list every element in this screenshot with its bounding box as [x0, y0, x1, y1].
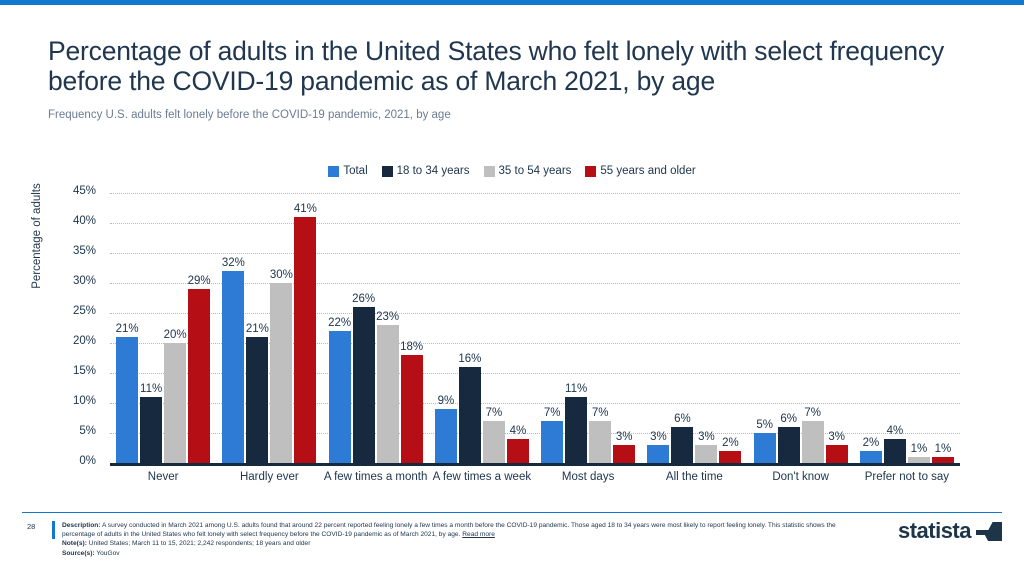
bar[interactable]: 3%: [647, 445, 669, 463]
bar[interactable]: 7%: [589, 421, 611, 463]
bar-value-label: 2%: [722, 437, 739, 449]
legend-label: 18 to 34 years: [397, 165, 470, 177]
y-tick-label: 20%: [73, 335, 96, 347]
notes-text: United States; March 11 to 15, 2021; 2,2…: [89, 540, 311, 547]
y-tick-label: 35%: [73, 245, 96, 257]
legend-label: 35 to 54 years: [499, 165, 572, 177]
bar[interactable]: 11%: [140, 397, 162, 463]
x-tick-label: A few times a month: [323, 470, 429, 484]
footer-divider: [22, 512, 1002, 513]
bar[interactable]: 41%: [294, 217, 316, 463]
y-tick-label: 10%: [73, 395, 96, 407]
bar[interactable]: 11%: [565, 397, 587, 463]
bar-value-label: 20%: [164, 329, 187, 341]
x-axis-line: [110, 463, 960, 466]
x-axis-category-labels: NeverHardly everA few times a monthA few…: [110, 470, 960, 510]
bar-value-label: 7%: [486, 407, 503, 419]
read-more-link[interactable]: Read more: [462, 531, 495, 538]
y-tick-label: 30%: [73, 275, 96, 287]
legend-label: Total: [343, 165, 367, 177]
bar-value-label: 18%: [400, 341, 423, 353]
bar-value-label: 32%: [222, 257, 245, 269]
bar-value-label: 5%: [756, 419, 773, 431]
bar-value-label: 23%: [376, 311, 399, 323]
x-tick-label: Most days: [535, 470, 641, 484]
bar-value-label: 11%: [565, 383, 587, 395]
footer-source: Source(s): YouGov: [62, 549, 852, 558]
bar[interactable]: 22%: [329, 331, 351, 463]
y-tick-label: 0%: [79, 455, 96, 467]
page-subtitle: Frequency U.S. adults felt lonely before…: [48, 109, 451, 121]
bar-value-label: 6%: [674, 413, 691, 425]
bars-layer: 21%11%20%29%32%21%30%41%22%26%23%18%9%16…: [110, 193, 960, 463]
bar-value-label: 1%: [935, 443, 952, 455]
description-label: Description:: [62, 522, 100, 529]
bar[interactable]: 3%: [695, 445, 717, 463]
bar[interactable]: 26%: [353, 307, 375, 463]
x-tick-label: Prefer not to say: [854, 470, 960, 484]
bar-value-label: 1%: [911, 443, 928, 455]
bar[interactable]: 20%: [164, 343, 186, 463]
bar-value-label: 3%: [828, 431, 845, 443]
x-tick-label: A few times a week: [429, 470, 535, 484]
bar[interactable]: 3%: [613, 445, 635, 463]
bar[interactable]: 5%: [754, 433, 776, 463]
bar-value-label: 21%: [116, 323, 139, 335]
statista-chart-slide: Percentage of adults in the United State…: [0, 0, 1024, 576]
bar-value-label: 11%: [140, 383, 162, 395]
bar-value-label: 21%: [246, 323, 269, 335]
bar[interactable]: 7%: [802, 421, 824, 463]
footer-note: Note(s): United States; March 11 to 15, …: [62, 539, 852, 548]
bar[interactable]: 21%: [116, 337, 138, 463]
bar[interactable]: 32%: [222, 271, 244, 463]
bar[interactable]: 30%: [270, 283, 292, 463]
x-tick-label: All the time: [641, 470, 747, 484]
x-tick-label: Don't know: [748, 470, 854, 484]
bar[interactable]: 6%: [671, 427, 693, 463]
footer-accent-bar: [52, 521, 55, 539]
bar[interactable]: 9%: [435, 409, 457, 463]
statista-wordmark: statista: [898, 518, 971, 544]
legend-item-3[interactable]: 55 years and older: [585, 165, 695, 177]
bar[interactable]: 21%: [246, 337, 268, 463]
y-axis-title: Percentage of adults: [31, 146, 43, 326]
legend-swatch-icon: [328, 166, 339, 177]
legend-label: 55 years and older: [600, 165, 695, 177]
page-title: Percentage of adults in the United State…: [48, 36, 948, 96]
sources-label: Source(s):: [62, 550, 95, 557]
footer-description: Description: A survey conducted in March…: [62, 521, 852, 539]
bar-value-label: 3%: [616, 431, 633, 443]
x-tick-label: Never: [110, 470, 216, 484]
bar-value-label: 4%: [510, 425, 527, 437]
y-axis-tick-labels: 0%5%10%15%20%25%30%35%40%45%: [42, 193, 104, 463]
bar-value-label: 16%: [458, 353, 481, 365]
legend-item-1[interactable]: 18 to 34 years: [382, 165, 470, 177]
bar-value-label: 2%: [863, 437, 880, 449]
statista-logo: statista: [898, 518, 1002, 544]
bar[interactable]: 18%: [401, 355, 423, 463]
bar[interactable]: 16%: [459, 367, 481, 463]
top-accent-bar: [0, 0, 1024, 5]
notes-label: Note(s):: [62, 540, 87, 547]
bar-value-label: 7%: [592, 407, 609, 419]
bar[interactable]: 7%: [541, 421, 563, 463]
legend-swatch-icon: [484, 166, 495, 177]
statista-arrow-icon: [976, 522, 1002, 541]
y-tick-label: 5%: [79, 425, 96, 437]
bar-value-label: 9%: [438, 395, 455, 407]
bar-value-label: 7%: [544, 407, 561, 419]
bar-value-label: 26%: [352, 293, 375, 305]
bar-value-label: 3%: [698, 431, 715, 443]
bar-value-label: 6%: [780, 413, 797, 425]
y-tick-label: 15%: [73, 365, 96, 377]
y-tick-label: 45%: [73, 185, 96, 197]
bar[interactable]: 4%: [884, 439, 906, 463]
bar[interactable]: 4%: [507, 439, 529, 463]
bar-value-label: 22%: [328, 317, 351, 329]
y-tick-label: 40%: [73, 215, 96, 227]
bar-value-label: 3%: [650, 431, 667, 443]
bar[interactable]: 23%: [377, 325, 399, 463]
bar[interactable]: 3%: [826, 445, 848, 463]
bar-value-label: 29%: [188, 275, 211, 287]
bar-value-label: 41%: [294, 203, 317, 215]
plot-area: 21%11%20%29%32%21%30%41%22%26%23%18%9%16…: [110, 193, 960, 463]
legend-swatch-icon: [382, 166, 393, 177]
bar[interactable]: 2%: [719, 451, 741, 463]
description-text: A survey conducted in March 2021 among U…: [62, 522, 836, 538]
bar-value-label: 7%: [804, 407, 821, 419]
sources-text: YouGov: [96, 550, 119, 557]
bar[interactable]: 2%: [860, 451, 882, 463]
chart-legend: Total18 to 34 years35 to 54 years55 year…: [0, 165, 1024, 177]
bar[interactable]: 29%: [188, 289, 210, 463]
bar[interactable]: 7%: [483, 421, 505, 463]
bar-value-label: 30%: [270, 269, 293, 281]
page-number: 28: [27, 522, 35, 531]
legend-swatch-icon: [585, 166, 596, 177]
legend-item-0[interactable]: Total: [328, 165, 367, 177]
y-tick-label: 25%: [73, 305, 96, 317]
footer-notes: Description: A survey conducted in March…: [62, 521, 852, 558]
bar-value-label: 4%: [887, 425, 904, 437]
legend-item-2[interactable]: 35 to 54 years: [484, 165, 572, 177]
x-tick-label: Hardly ever: [216, 470, 322, 484]
bar[interactable]: 6%: [778, 427, 800, 463]
